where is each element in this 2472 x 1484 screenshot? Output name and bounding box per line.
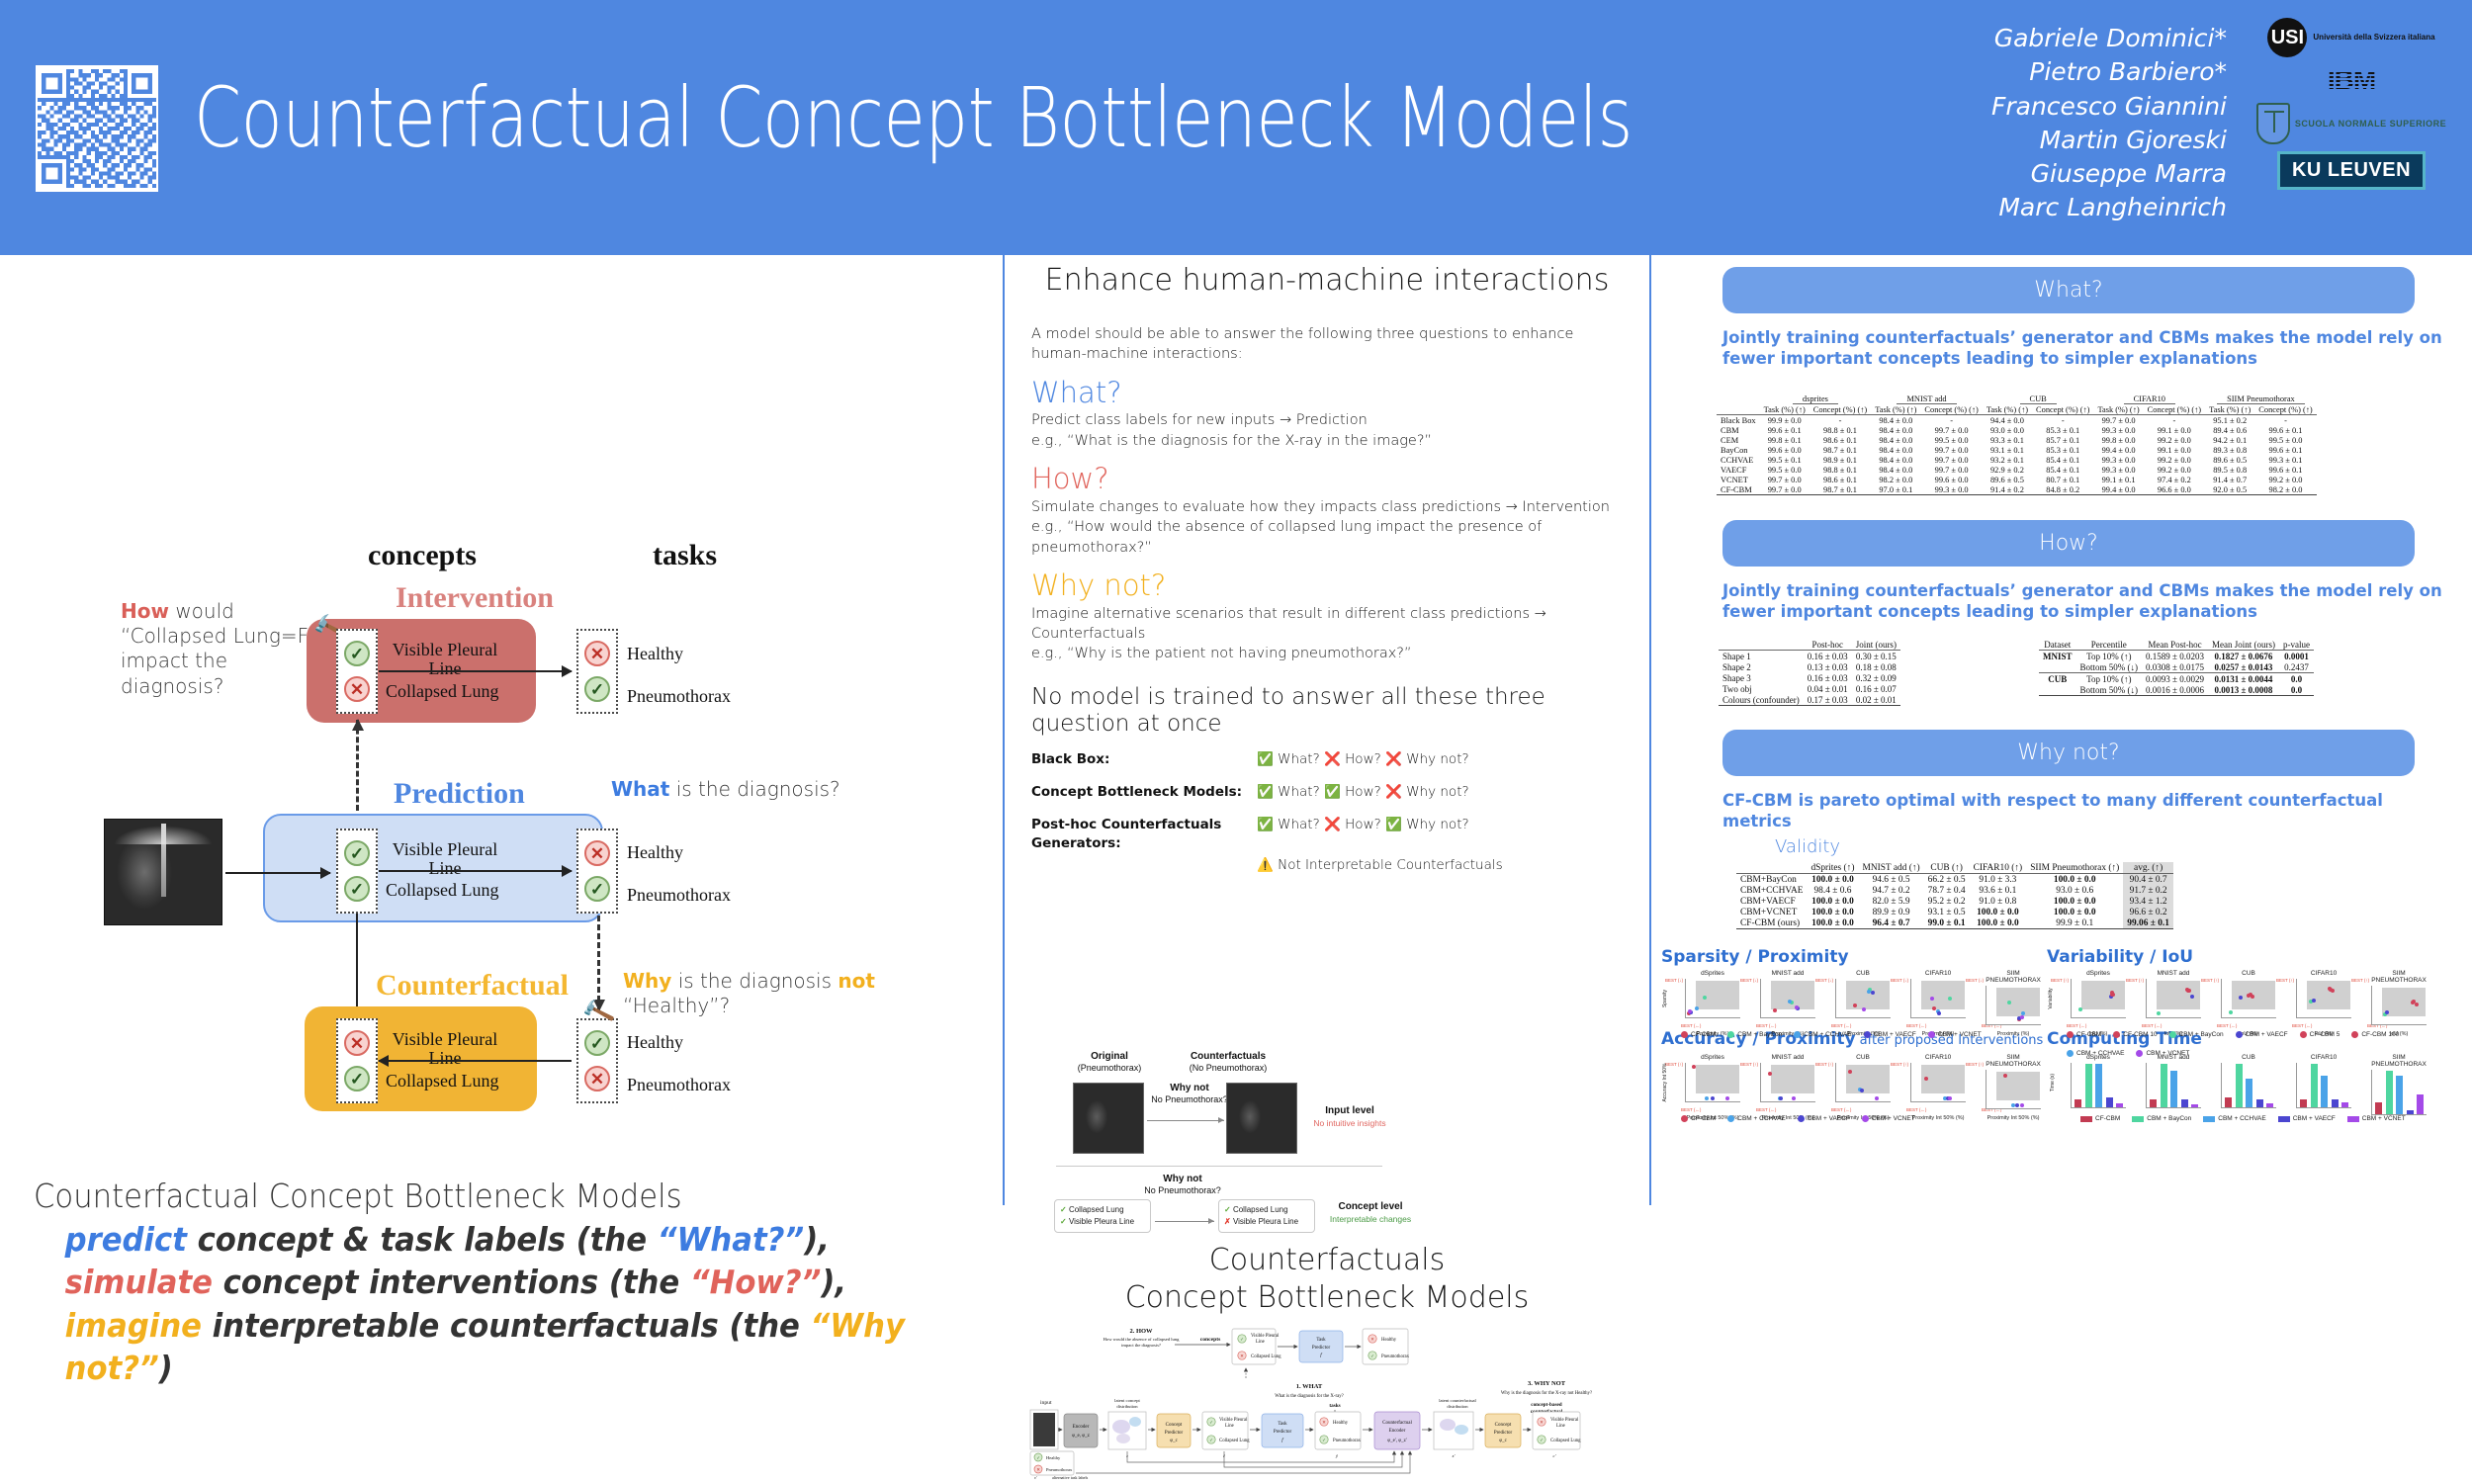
scuola-normale-superiore-logo: SCUOLA NORMALE SUPERIORE <box>2256 103 2446 144</box>
cf-figure-divider <box>1056 1166 1382 1167</box>
table-cell: 78.7 ± 0.4 <box>1924 885 1970 896</box>
svg-text:Predictor: Predictor <box>1312 1346 1331 1351</box>
table-cell <box>2039 661 2076 673</box>
panel-title: SIIM PNEUMOTHORAX <box>1986 1054 2041 1068</box>
how-label: How? <box>1345 751 1381 767</box>
svg-text:Collapsed Lung: Collapsed Lung <box>1550 1439 1581 1443</box>
input-to-prediction-arrow <box>225 872 330 874</box>
cf-generated-sub: (No Pneumothorax) <box>1173 1063 1283 1073</box>
bar <box>2386 1071 2393 1114</box>
no-model-heading: No model is trained to answer all these … <box>1031 684 1625 739</box>
qr-code-icon[interactable] <box>36 65 158 192</box>
data-point <box>1795 1005 1799 1009</box>
panel-title: CIFAR10 <box>2296 970 2351 977</box>
table-cell: 89.6 ± 0.5 <box>2205 455 2254 465</box>
sub-header-concept: Concept (%) (↑) <box>2032 404 2093 415</box>
table-cell: 99.6 ± 0.1 <box>2254 425 2316 435</box>
table-cell: Bottom 50% (↓) <box>2076 684 2143 696</box>
svg-text:Visible Pleural: Visible Pleural <box>1251 1334 1280 1339</box>
table-cell: 0.1827 ± 0.0676 <box>2208 651 2279 662</box>
intervention-concept-2-label: Collapsed Lung <box>386 682 499 701</box>
data-point <box>1788 1000 1792 1004</box>
check-icon: ✓ <box>1224 1205 1231 1214</box>
what-desc-line-2: e.g., “What is the diagnosis for the X-r… <box>1031 431 1625 451</box>
panel-title: CUB <box>1835 1054 1891 1061</box>
legend-swatch <box>2169 1031 2176 1038</box>
stage-label-counterfactual: Counterfactual <box>376 969 569 1003</box>
table-cell: 99.3 ± 0.0 <box>1920 484 1982 495</box>
legend-item: CF-CBM <box>2067 1031 2101 1038</box>
how-note-line3: impact the diagnosis? <box>121 649 227 697</box>
validity-table-body: CBM+BayCon100.0 ± 0.094.6 ± 0.566.2 ± 0.… <box>1736 874 2173 929</box>
cf-concept-orig-2: ✓ Visible Pleura Line <box>1060 1216 1145 1228</box>
cf-arrow-concept <box>1155 1221 1214 1222</box>
svg-text:✓: ✓ <box>1540 1438 1544 1442</box>
table-cell: 98.4 ± 0.0 <box>1871 415 1920 426</box>
validity-col-3: CUB (↑) <box>1924 862 1970 874</box>
shape-table-col-2: Joint (ours) <box>1852 639 1900 651</box>
svg-text:latent concept: latent concept <box>1114 1398 1140 1403</box>
accuracy-proximity-chart: BEST (←)BEST (↑)Proximity Int 50% (%)dSp… <box>1655 1054 2031 1121</box>
table-cell: 0.17 ± 0.03 <box>1804 694 1852 706</box>
table-cell: 93.1 ± 0.5 <box>1924 907 1970 917</box>
section-sub-what: Jointly training counterfactuals’ genera… <box>1722 327 2444 369</box>
pv-col-1: Percentile <box>2076 639 2143 651</box>
intervention-task-2-label: Pneumothorax <box>627 687 731 706</box>
author-name: Giuseppe Marra <box>1991 157 2227 191</box>
legend-swatch <box>1681 1115 1688 1122</box>
bar <box>2341 1102 2348 1107</box>
section-pill-what[interactable]: What? <box>1722 267 2415 313</box>
data-point <box>2190 995 2194 999</box>
plot-area <box>1986 986 2041 1025</box>
table-cell: VCNET <box>1717 475 1760 484</box>
cf-input-level-note: No intuitive insights <box>1305 1118 1394 1128</box>
legend-label: CBM + CCHVAE <box>1804 1031 1851 1038</box>
check-icon: ✓ <box>1060 1205 1067 1214</box>
table-cell: 94.4 ± 0.0 <box>1983 415 2032 426</box>
table-cell: 0.16 ± 0.07 <box>1852 683 1900 694</box>
legend-item: CF-CBM 100 <box>2351 1031 2399 1038</box>
bar <box>2225 1097 2232 1107</box>
table-cell: 94.7 ± 0.2 <box>1858 885 1923 896</box>
cf-concept-cf-1-label: Collapsed Lung <box>1233 1205 1288 1214</box>
plot-area <box>2071 1063 2126 1108</box>
table-cell: Bottom 50% (↓) <box>2076 661 2143 673</box>
how-question-note: How would “Collapsed Lung=F” impact the … <box>121 599 328 699</box>
chart-panel: MNIST add <box>1760 970 1815 1018</box>
table-cell: 85.7 ± 0.1 <box>2032 435 2093 445</box>
legend-label: CBM + BayCon <box>2147 1115 2191 1122</box>
sub-header-task: Task (%) (↑) <box>2093 404 2143 415</box>
table-cell: Two obj <box>1719 683 1804 694</box>
plot-area <box>2296 979 2351 1018</box>
intervention-task-chip: ✕ ✓ <box>576 629 618 714</box>
table-row: CBM+VAECF100.0 ± 0.082.0 ± 5.995.2 ± 0.2… <box>1736 896 2173 907</box>
table-cell: 0.0 <box>2279 673 2314 685</box>
chart-panel: SIIM PNEUMOTHORAX <box>1986 1054 2041 1109</box>
best-x-annotation: BEST (←) <box>1906 1107 1926 1112</box>
table-cell: - <box>2254 415 2316 426</box>
table-cell: 98.2 ± 0.0 <box>1871 475 1920 484</box>
table-cell: 99.3 ± 0.0 <box>2093 425 2143 435</box>
what-quote: “What?” <box>658 1220 804 1259</box>
table-cell: 96.6 ± 0.2 <box>2123 907 2173 917</box>
table-row: CF-CBM (ours)100.0 ± 0.096.4 ± 0.799.0 ±… <box>1736 917 2173 929</box>
cross-icon: ❌ <box>1324 817 1341 832</box>
legend-label: CF-CBM 10 <box>2123 1031 2157 1038</box>
legend-swatch <box>1727 1031 1734 1038</box>
table-cell: 99.8 ± 0.1 <box>1760 435 1810 445</box>
panel-title: CIFAR10 <box>1910 970 1966 977</box>
svg-text:Encoder: Encoder <box>1389 1429 1406 1434</box>
chart-panel: SIIM PNEUMOTHORAX <box>2371 1054 2427 1115</box>
what-note-rest: is the diagnosis? <box>669 777 839 801</box>
legend-swatch <box>2203 1116 2215 1122</box>
prediction-task-2-label: Pneumothorax <box>627 886 731 905</box>
table-cell: 0.04 ± 0.01 <box>1804 683 1852 694</box>
legend-label: CF-CBM <box>1691 1115 1716 1122</box>
table-cell: 0.0001 <box>2279 651 2314 662</box>
chart-legend: CF-CBMCBM + CCHVAECBM + VAECFCBM + VCNET <box>1681 1115 2027 1122</box>
table-cell: 93.6 ± 0.1 <box>1970 885 2027 896</box>
table-cell: 91.0 ± 0.8 <box>1970 896 2027 907</box>
svg-text:Healthy: Healthy <box>1333 1421 1349 1426</box>
y-axis-label: Accuracy Int 50% <box>1662 1061 1668 1104</box>
data-point <box>2078 1007 2082 1011</box>
bar <box>2300 1099 2307 1107</box>
svg-text:Encoder: Encoder <box>1073 1425 1090 1430</box>
sub-header-concept: Concept (%) (↑) <box>2254 404 2316 415</box>
best-y-annotation: BEST (↓) <box>1966 978 1984 983</box>
chest-xray-image <box>104 819 222 925</box>
chart-panel: SIIM PNEUMOTHORAX <box>1986 970 2041 1025</box>
what-label: What? <box>1278 817 1320 832</box>
table-cell: 97.4 ± 0.2 <box>2144 475 2205 484</box>
table-cell: CBM+BayCon <box>1736 874 1807 886</box>
prediction-concept-chip: ✓ ✓ <box>336 829 378 914</box>
cf-generated-title: Counterfactuals <box>1173 1051 1283 1062</box>
table-cell: - <box>2032 415 2093 426</box>
shape-table-col-0 <box>1719 639 1804 651</box>
data-point <box>1792 1096 1796 1100</box>
chart-panel: CUB <box>1835 970 1891 1018</box>
how-desc-line-1: Simulate changes to evaluate how they im… <box>1031 497 1625 517</box>
what-question-note: What is the diagnosis? <box>611 777 840 802</box>
cross-circle-icon: ✕ <box>584 840 610 866</box>
validity-table: dSprites (↑) MNIST add (↑) CUB (↑) CIFAR… <box>1736 862 2173 929</box>
svg-text:Pneumothorax: Pneumothorax <box>1333 1439 1362 1443</box>
metric-title-sparsity-main: Sparsity / Proximity <box>1661 947 1849 967</box>
table-cell: 0.16 ± 0.03 <box>1804 672 1852 683</box>
table-cell: 92.9 ± 0.2 <box>1983 465 2032 475</box>
table-cell: 99.5 ± 0.0 <box>1760 465 1810 475</box>
check-circle-icon: ✓ <box>344 1066 370 1091</box>
table-cell: 99.7 ± 0.0 <box>1920 425 1982 435</box>
best-x-annotation: BEST (←) <box>2292 1023 2312 1028</box>
summary-line-3-rest: concept interventions (the <box>213 1263 690 1301</box>
svg-text:Line: Line <box>1256 1340 1265 1345</box>
svg-text:Collapsed Lung: Collapsed Lung <box>1219 1439 1250 1443</box>
group-header-siim: SIIM Pneumothorax <box>2205 393 2317 404</box>
cf-edge1-line1: Why not <box>1150 1083 1229 1093</box>
legend-item: CF-CBM <box>1681 1115 1716 1122</box>
table-cell: 99.0 ± 0.1 <box>1924 917 1970 929</box>
table-cell: 0.02 ± 0.01 <box>1852 694 1900 706</box>
table-cell: 99.8 ± 0.0 <box>2093 435 2143 445</box>
prediction-to-intervention-arrow <box>356 720 359 811</box>
table-cell: 98.8 ± 0.1 <box>1810 465 1871 475</box>
cross-icon: ❌ <box>1324 751 1341 767</box>
chart-panel: dSprites <box>1685 1054 1740 1102</box>
chart-panel: CUB <box>2221 1054 2276 1108</box>
table-cell: 0.0013 ± 0.0008 <box>2208 684 2279 696</box>
svg-text:Concept: Concept <box>1495 1423 1512 1428</box>
best-y-annotation: BEST (↑) <box>1740 1062 1758 1067</box>
best-x-annotation: BEST (←) <box>1681 1023 1701 1028</box>
table-cell: 99.9 ± 0.0 <box>1760 415 1810 426</box>
how-desc-line-2: e.g., “How would the absence of collapse… <box>1031 517 1625 558</box>
pareto-region <box>2307 981 2350 1009</box>
predict-verb: predict <box>65 1220 187 1259</box>
table-cell: CBM <box>1717 425 1760 435</box>
svg-text:φ_c: φ_c <box>1170 1439 1178 1443</box>
prediction-task-chip: ✕ ✓ <box>576 829 618 914</box>
usi-logo-mark: USI <box>2267 18 2307 57</box>
middle-intro-text: A model should be able to answer the fol… <box>1031 324 1625 365</box>
panel-title: CUB <box>2221 970 2276 977</box>
section-pill-how[interactable]: How? <box>1722 520 2415 567</box>
table-cell: 66.2 ± 0.5 <box>1924 874 1970 886</box>
legend-item: CBM + BayCon <box>2169 1031 2224 1038</box>
svg-text:What is the diagnosis for the: What is the diagnosis for the X-ray? <box>1275 1394 1344 1399</box>
posthoc-joint-shape-table: Post-hoc Joint (ours) Shape 10.16 ± 0.03… <box>1719 639 1900 706</box>
legend-item: CBM + CCHVAE <box>1794 1031 1851 1038</box>
bar <box>2181 1099 2188 1107</box>
prediction-to-task-arrow <box>379 870 572 872</box>
best-x-annotation: BEST (←) <box>1906 1023 1926 1028</box>
chart-panel: CIFAR10 <box>2296 970 2351 1018</box>
table-cell: 93.0 ± 0.6 <box>2026 885 2123 896</box>
accuracy-table-body: Black Box99.9 ± 0.0-98.4 ± 0.0-94.4 ± 0.… <box>1717 415 2317 495</box>
table-cell: Shape 3 <box>1719 672 1804 683</box>
usi-logo-text: Università della Svizzera italiana <box>2313 33 2434 42</box>
table-cell: 99.1 ± 0.0 <box>2144 445 2205 455</box>
author-list: Gabriele Dominici* Pietro Barbiero* Fran… <box>1991 22 2227 225</box>
section-pill-whynot[interactable]: Why not? <box>1722 730 2415 776</box>
data-point <box>1692 1065 1696 1069</box>
counterfactual-task-chip: ✓ ✕ <box>576 1018 618 1103</box>
table-cell: 100.0 ± 0.0 <box>1807 896 1858 907</box>
plot-area <box>2071 979 2126 1018</box>
cf-original-title: Original <box>1060 1051 1159 1062</box>
svg-text:✕: ✕ <box>1370 1337 1374 1342</box>
svg-text:1. WHAT: 1. WHAT <box>1296 1383 1323 1390</box>
stage-label-prediction: Prediction <box>394 777 525 811</box>
legend-swatch <box>2132 1116 2144 1122</box>
panel-title: dSprites <box>1685 970 1740 977</box>
legend-label: CF-CBM <box>1691 1031 1716 1038</box>
panel-title: dSprites <box>1685 1054 1740 1061</box>
panel-title: SIIM PNEUMOTHORAX <box>2371 1054 2427 1068</box>
bar <box>2236 1064 2243 1107</box>
svg-text:Line: Line <box>1225 1424 1234 1429</box>
bar <box>2170 1071 2177 1107</box>
validity-col-5: SIIM Pneumothorax (↑) <box>2026 862 2123 874</box>
table-cell: 93.1 ± 0.1 <box>1983 445 2032 455</box>
pv-col-4: p-value <box>2279 639 2314 651</box>
table-cell: 93.0 ± 0.0 <box>1983 425 2032 435</box>
plot-area <box>1760 1063 1815 1102</box>
table-cell: 99.7 ± 0.0 <box>1760 475 1810 484</box>
plot-area <box>1910 1063 1966 1102</box>
svg-text:distribution: distribution <box>1116 1404 1138 1409</box>
ibm-logo: IBM <box>2328 64 2375 96</box>
table-cell: 90.4 ± 0.7 <box>2123 874 2173 886</box>
bar <box>2085 1064 2092 1107</box>
why-note-mid: is the diagnosis <box>671 969 838 993</box>
table-row: CBM+VCNET100.0 ± 0.089.9 ± 0.993.1 ± 0.5… <box>1736 907 2173 917</box>
plot-area <box>2221 1063 2276 1108</box>
check-icon: ✅ <box>1385 817 1402 832</box>
check-icon: ✅ <box>1257 817 1274 832</box>
cf-edge2-line1: Why not <box>1143 1174 1222 1184</box>
cross-circle-icon: ✕ <box>344 676 370 702</box>
bar <box>2075 1099 2081 1107</box>
table-cell: 93.3 ± 0.1 <box>1983 435 2032 445</box>
bar <box>2375 1102 2382 1114</box>
crest-icon <box>2256 103 2290 144</box>
table-cell: 99.2 ± 0.0 <box>2254 475 2316 484</box>
plot-area <box>1986 1070 2041 1109</box>
model-capability-marks: ✅ What? ❌ How? ❌ Why not? <box>1257 750 1625 769</box>
data-point <box>2229 1010 2233 1014</box>
table-cell: 99.2 ± 0.0 <box>2144 455 2205 465</box>
svg-text:2. HOW: 2. HOW <box>1129 1328 1153 1335</box>
pareto-region <box>1996 988 2040 1016</box>
data-point <box>1930 997 1934 1001</box>
percentile-pvalue-table: Dataset Percentile Mean Post-hoc Mean Jo… <box>2039 639 2314 696</box>
svg-text:Task: Task <box>1316 1338 1326 1343</box>
bar <box>2407 1110 2414 1114</box>
summary-statement: Counterfactual Concept Bottleneck Models… <box>34 1175 934 1390</box>
data-point <box>1875 1096 1879 1100</box>
legend-swatch <box>2300 1031 2307 1038</box>
cf-original-sub: (Pneumothorax) <box>1060 1063 1159 1073</box>
task-concept-accuracy-table: dsprites MNIST add CUB CIFAR10 SIIM Pneu… <box>1717 393 2317 495</box>
check-circle-icon: ✓ <box>584 676 610 702</box>
best-x-annotation: BEST (←) <box>1681 1107 1701 1112</box>
svg-text:✓: ✓ <box>1370 1353 1374 1358</box>
bar <box>2266 1103 2273 1107</box>
svg-text:input: input <box>1040 1400 1052 1406</box>
whynot-desc-line-1: Imagine alternative scenarios that resul… <box>1031 604 1625 645</box>
counterfactual-task-to-concept-arrow <box>379 1060 572 1062</box>
tasks-column-header: tasks <box>653 539 717 572</box>
plot-area <box>2371 1070 2427 1115</box>
variability-iou-chart: BEST (←)BEST (↑)IoU (%)dSpritesBEST (←)B… <box>2041 970 2417 1037</box>
table-cell: 98.4 ± 0.0 <box>1871 425 1920 435</box>
validity-col-0 <box>1736 862 1807 874</box>
imagine-verb: imagine <box>65 1306 202 1345</box>
table-cell: 99.1 ± 0.0 <box>2144 425 2205 435</box>
chart-panel: CUB <box>2221 970 2276 1018</box>
table-cell: 98.4 ± 0.6 <box>1807 885 1858 896</box>
best-y-annotation: BEST (↓) <box>1891 978 1908 983</box>
legend-item: CBM + CCHVAE <box>1727 1115 1785 1122</box>
legend-swatch <box>2347 1116 2359 1122</box>
counterfactual-concept-2-label: Collapsed Lung <box>386 1072 499 1091</box>
table-cell: 100.0 ± 0.0 <box>1970 917 2027 929</box>
table-cell: 92.0 ± 0.5 <box>2205 484 2254 495</box>
simulate-verb: simulate <box>65 1263 213 1301</box>
cf-concept-orig-2-label: Visible Pleura Line <box>1069 1217 1134 1226</box>
panel-title: MNIST add <box>1760 970 1815 977</box>
legend-swatch <box>1727 1115 1734 1122</box>
table-cell: 85.4 ± 0.1 <box>2032 465 2093 475</box>
legend-swatch <box>1681 1031 1688 1038</box>
summary-line-2-end: ), <box>804 1220 830 1259</box>
intervention-task-1-label: Healthy <box>627 645 683 663</box>
svg-text:Task: Task <box>1278 1422 1287 1427</box>
page-title: Counterfactual Concept Bottleneck Models <box>194 69 1572 166</box>
table-row: Bottom 50% (↓)0.0308 ± 0.01750.0257 ± 0.… <box>2039 661 2314 673</box>
prediction-concept-2-label: Collapsed Lung <box>386 881 499 900</box>
svg-text:φ_e, φ_z: φ_e, φ_z <box>1072 1434 1090 1439</box>
check-circle-icon: ✓ <box>344 840 370 866</box>
legend-item: CF-CBM <box>1681 1031 1716 1038</box>
data-point <box>2415 1003 2419 1006</box>
cf-concept-level-note: Interpretable changes <box>1321 1214 1420 1224</box>
model-capability-marks: ✅ What? ❌ How? ✅ Why not? <box>1257 816 1625 853</box>
table-cell: CBM+VAECF <box>1736 896 1807 907</box>
table-cell: 99.3 ± 0.0 <box>2093 465 2143 475</box>
bar <box>2106 1097 2113 1107</box>
legend-item: CBM + VCNET <box>1862 1115 1915 1122</box>
legend-label: CBM + BayCon <box>2179 1031 2224 1038</box>
svg-text:c': c' <box>1552 1453 1556 1458</box>
summary-line-4-end: ) <box>159 1349 173 1387</box>
data-point <box>1779 1096 1783 1100</box>
table-cell: 0.2437 <box>2279 661 2314 673</box>
best-y-annotation: BEST (↑) <box>1891 1062 1908 1067</box>
what-desc-line-1: Predict class labels for new inputs → Pr… <box>1031 410 1625 430</box>
bar <box>2150 1099 2157 1107</box>
table-cell: 95.2 ± 0.2 <box>1924 896 1970 907</box>
check-icon: ✓ <box>1060 1217 1067 1226</box>
panel-title: dSprites <box>2071 1054 2126 1061</box>
svg-text:φ_c: φ_c <box>1499 1439 1507 1443</box>
legend-label: CF-CBM <box>2076 1031 2101 1038</box>
summary-line-2: predict concept & task labels (the “What… <box>34 1218 934 1262</box>
svg-text:Line: Line <box>1556 1424 1565 1429</box>
svg-text:✕: ✕ <box>1322 1420 1326 1425</box>
institution-logos: USI Università della Svizzera italiana I… <box>2252 18 2450 190</box>
legend-item: CF-CBM 5 <box>2300 1031 2340 1038</box>
svg-text:✓: ✓ <box>1209 1420 1213 1425</box>
data-point <box>1725 1096 1729 1100</box>
author-name: Pietro Barbiero* <box>1991 55 2227 89</box>
legend-item: CBM + VAECF <box>1864 1031 1916 1038</box>
table-cell: 100.0 ± 0.0 <box>1807 917 1858 929</box>
plot-area <box>2221 979 2276 1018</box>
chart-panel: dSprites <box>2071 1054 2126 1108</box>
svg-text:Predictor: Predictor <box>1494 1431 1513 1436</box>
bar <box>2396 1076 2403 1114</box>
legend-label: CBM + BayCon <box>1737 1031 1782 1038</box>
table-cell: 99.6 ± 0.1 <box>2254 465 2316 475</box>
percentile-table-body: MNISTTop 10% (↑)0.1589 ± 0.02030.1827 ± … <box>2039 651 2314 696</box>
